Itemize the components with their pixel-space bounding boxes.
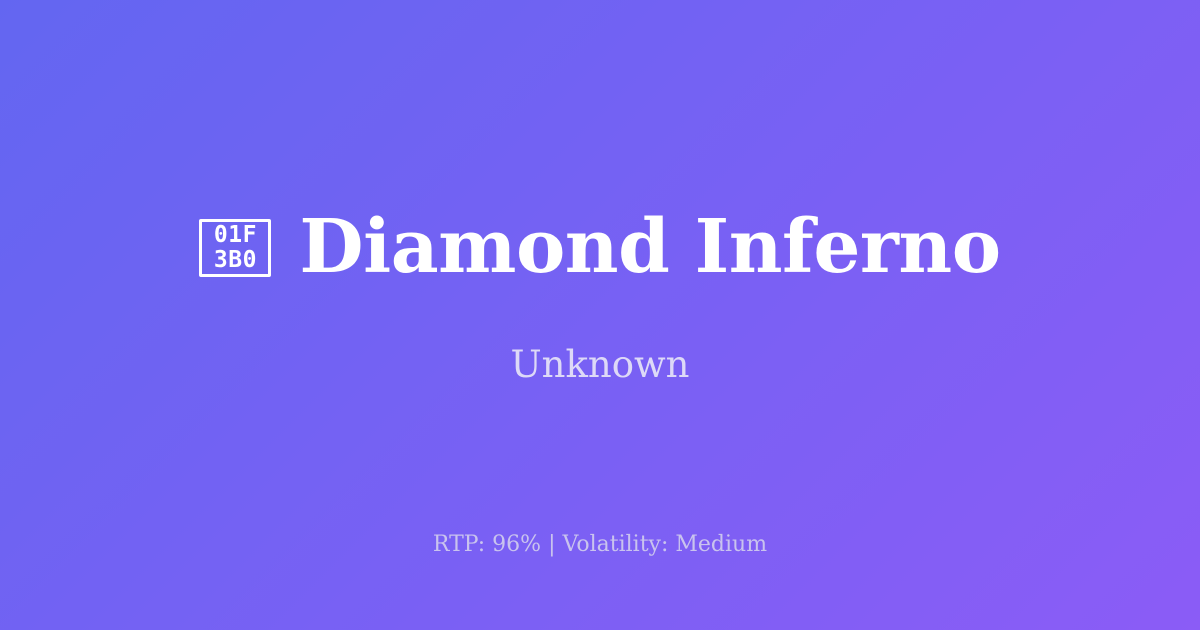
title-row: 01F 3B0 Diamond Inferno xyxy=(159,209,1040,287)
game-title: Diamond Inferno xyxy=(299,209,1000,287)
game-provider: Unknown xyxy=(510,345,689,386)
game-promo-card: 01F 3B0 Diamond Inferno Unknown RTP: 96%… xyxy=(0,0,1200,630)
game-stats: RTP: 96% | Volatility: Medium xyxy=(0,532,1200,558)
slot-machine-icon-codepoint-top: 01F xyxy=(214,223,257,248)
slot-machine-icon-codepoint-bottom: 3B0 xyxy=(214,248,257,273)
slot-machine-icon: 01F 3B0 xyxy=(199,219,271,277)
